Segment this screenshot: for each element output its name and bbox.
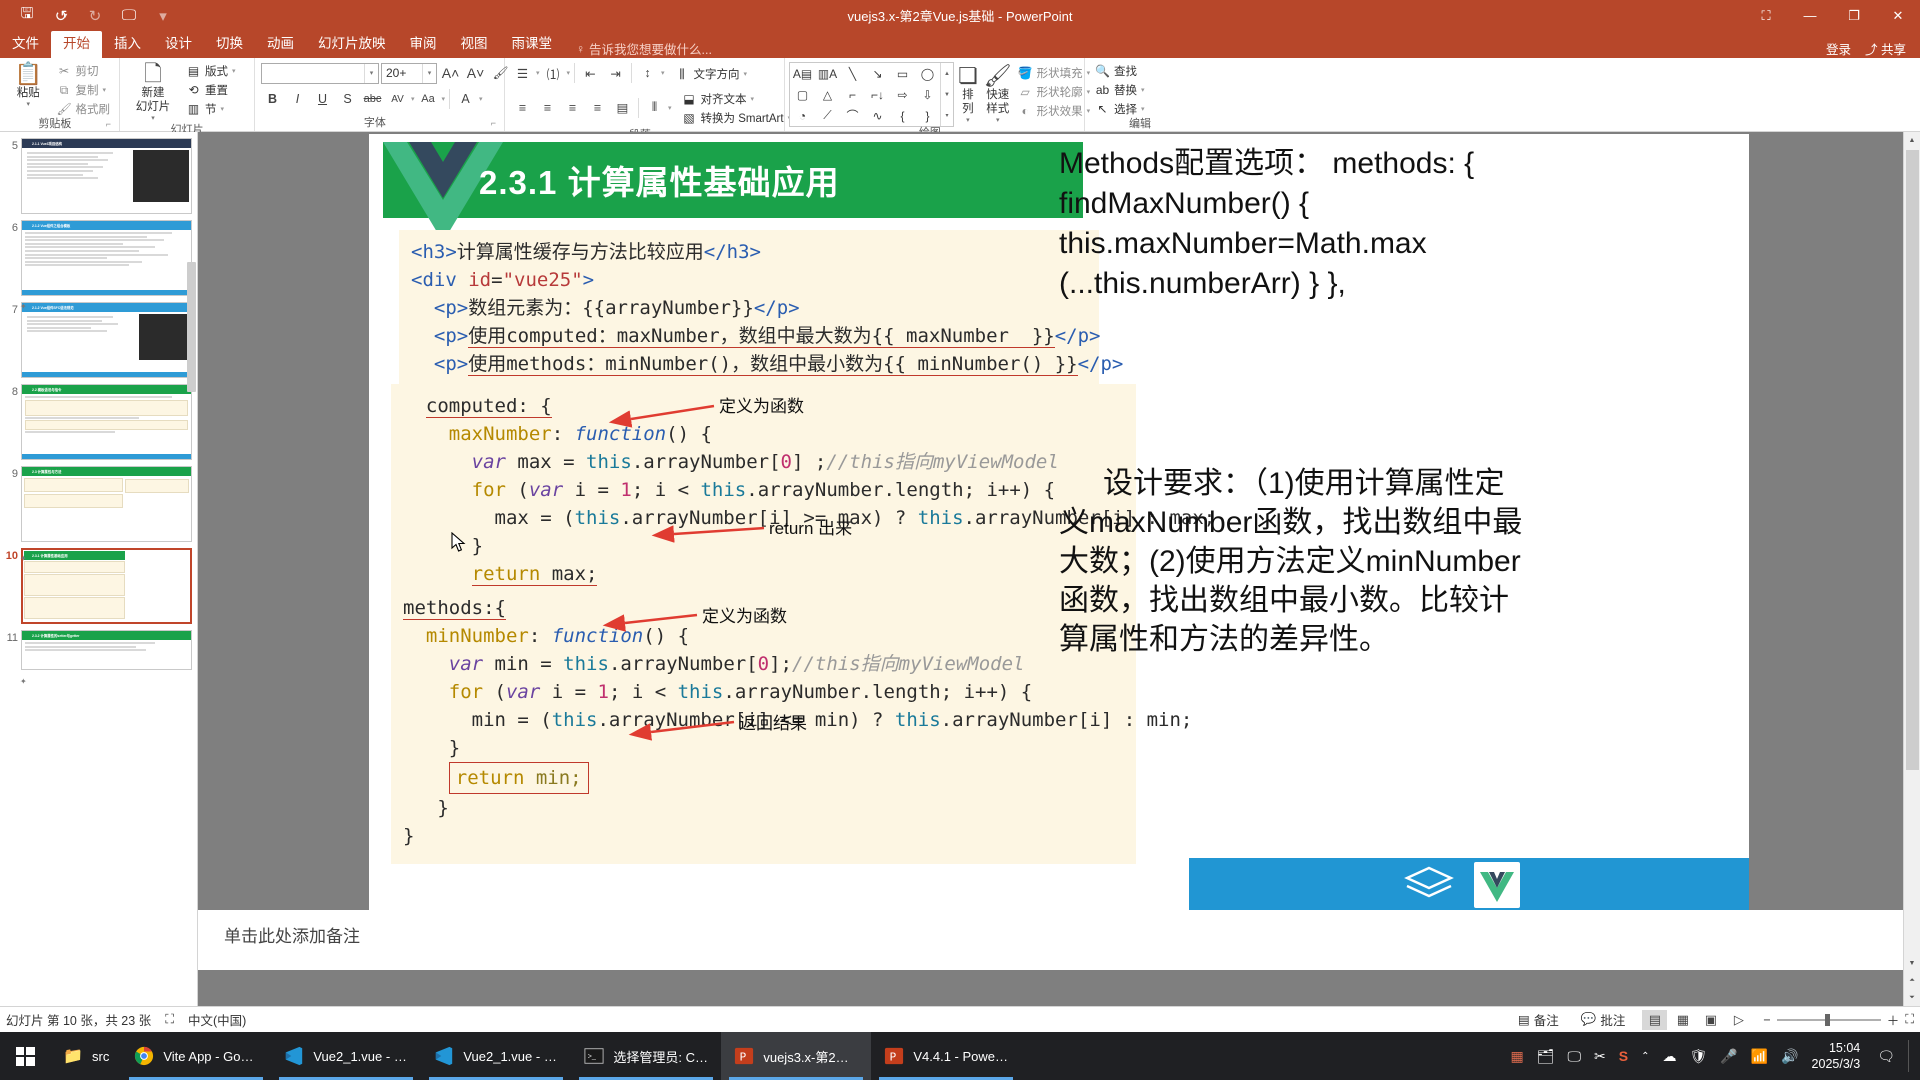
vue-badge-icon xyxy=(1474,862,1520,908)
replace-label: 替换 xyxy=(1114,82,1137,98)
undo-icon[interactable]: ↺▾ xyxy=(44,2,78,29)
ribbon-body: 📋 粘贴 ▾ ✂ 剪切 ⧉ 复制 ▾ 🖌 格式刷 xyxy=(0,58,1920,132)
taskbar-label: vuejs3.x-第2章Vue... xyxy=(763,1047,859,1066)
copy-button[interactable]: ⧉ 复制 ▾ xyxy=(55,81,116,99)
shape-right-brace-icon[interactable]: } xyxy=(915,105,940,126)
minimize-icon[interactable]: — xyxy=(1788,0,1832,31)
paste-label: 粘贴 xyxy=(17,86,40,100)
scrollbar-thumb[interactable] xyxy=(1906,150,1919,770)
shape-vertical-textbox-icon[interactable]: ▥A xyxy=(815,63,840,84)
character-spacing-icon[interactable]: AV xyxy=(386,88,409,110)
taskbar-item-vscode-2[interactable]: Vue2_1.vue - Visu... xyxy=(421,1032,571,1080)
redo-icon[interactable]: ↻ xyxy=(78,2,112,29)
animation-star-icon: ✦ xyxy=(20,554,27,563)
tray-volume-icon[interactable]: 🔊 xyxy=(1781,1048,1798,1065)
thumbnail-title: 2.1.2 Vue组件之组合模板 xyxy=(22,221,191,230)
quick-styles-button[interactable]: 🖌 快速样式 ▾ xyxy=(982,62,1014,126)
cursor-icon: ↖ xyxy=(1095,102,1110,116)
font-name-chevron-down-icon[interactable]: ▾ xyxy=(364,64,378,83)
powerpoint-icon: P xyxy=(733,1045,755,1067)
notes-placeholder: 单击此处添加备注 xyxy=(224,927,360,946)
align-text-button[interactable]: ⬓ 对齐文本 ▾ xyxy=(680,90,797,108)
taskbar-item-terminal[interactable]: >_ 选择管理员: C:\Wi... xyxy=(571,1032,721,1080)
notes-button[interactable]: ▤ 备注 xyxy=(1513,1008,1564,1031)
format-painter-button[interactable]: 🖌 格式刷 xyxy=(55,100,116,118)
ribbon-group-drawing: A▤ ▥A ╲ ↘ ▭ ◯ ▢ △ ⌐ ⌐↓ ⇨ ⇩ ◔ ⟋ ⌒ ∿ { xyxy=(785,58,1085,131)
reset-button[interactable]: ⟲ 重置 xyxy=(184,81,241,99)
slide-surface[interactable]: 2.3.1 计算属性基础应用 <h3>计算属性缓存与方法比较应用</h3> <d… xyxy=(369,134,1749,910)
align-center-icon[interactable]: ≡ xyxy=(536,97,559,119)
new-slide-button[interactable]: 🗋 新建 幻灯片 ▾ xyxy=(124,60,182,124)
list-item[interactable]: 5 2.1.1 Vue3项目结构 xyxy=(0,135,197,217)
taskbar-label: 选择管理员: C:\Wi... xyxy=(613,1047,709,1066)
shape-triangle-icon[interactable]: △ xyxy=(815,84,840,105)
thumbnail-card-10[interactable]: 2.3.1 计算属性基础应用 xyxy=(21,548,192,624)
tab-design[interactable]: 设计 xyxy=(153,31,204,58)
layout-icon: ▤ xyxy=(186,64,201,78)
comments-label: 批注 xyxy=(1600,1010,1625,1029)
animation-star-icon: ✦ xyxy=(20,677,27,686)
arrange-icon: ❏ xyxy=(958,64,978,88)
show-desktop-bar[interactable] xyxy=(1908,1040,1912,1072)
thumbnail-title: 2.3.2 计算属性的setter与getter xyxy=(22,631,191,640)
section-label: 节 xyxy=(205,101,217,117)
thumbnail-number: 9 xyxy=(2,466,18,480)
thumbnail-title: 2.1.1 Vue3项目结构 xyxy=(22,139,191,148)
new-slide-label: 新建 幻灯片 xyxy=(136,86,171,114)
right-code-text[interactable]: Methods配置选项： methods: { findMaxNumber() … xyxy=(1059,144,1529,304)
shape-rounded-rect-icon[interactable]: ▢ xyxy=(790,84,815,105)
reset-label: 重置 xyxy=(205,82,228,98)
replace-icon: ab xyxy=(1095,83,1110,97)
list-item-selected[interactable]: 10 2.3.1 计算属性基础应用 xyxy=(0,545,197,627)
system-tray: ▦ 🗂 🖵 ✂ S ⌃ ☁ 🛡 🎤 📶 🔊 15:04 2025/3/3 🗨 xyxy=(1510,1040,1920,1072)
shapes-more-icon[interactable]: ▾ xyxy=(941,105,953,126)
normal-view-icon[interactable]: ▤ xyxy=(1642,1010,1667,1030)
tray-shield-icon[interactable]: 🛡 xyxy=(1689,1048,1707,1065)
tab-review[interactable]: 审阅 xyxy=(398,31,449,58)
thumbnail-number: 5 xyxy=(2,138,18,152)
fit-slide-icon[interactable]: ⛶ xyxy=(1905,1012,1914,1027)
annotation-return-result: 返回结果 xyxy=(739,709,807,734)
shape-outline-label: 形状轮廓 xyxy=(1037,84,1083,100)
quick-styles-icon: 🖌 xyxy=(984,64,1012,88)
vscode-icon xyxy=(283,1045,305,1067)
convert-smartart-button[interactable]: ▧ 转换为 SmartArt ▾ xyxy=(680,109,797,127)
list-item[interactable]: 11 2.3.2 计算属性的setter与getter xyxy=(0,627,197,673)
tray-cloud-icon[interactable]: ☁ xyxy=(1662,1048,1676,1065)
font-size-chevron-down-icon[interactable]: ▾ xyxy=(422,64,436,83)
change-case-icon[interactable]: Aa xyxy=(417,88,440,110)
tray-app-icon[interactable]: ▦ xyxy=(1510,1048,1523,1065)
tab-yuketang[interactable]: 雨课堂 xyxy=(500,31,565,58)
window-title: vuejs3.x-第2章Vue.js基础 - PowerPoint xyxy=(0,6,1920,25)
notes-icon: ▤ xyxy=(1518,1012,1530,1027)
strikethrough-icon[interactable]: abc xyxy=(361,88,384,110)
ribbon-group-editing: 🔍 查找 ab 替换 ▾ ↖ 选择 ▾ 编辑 xyxy=(1085,58,1195,131)
clock-date: 2025/3/3 xyxy=(1812,1056,1861,1072)
search-icon: 🔍 xyxy=(1095,64,1110,78)
group-label-font: ⌐ 字体 xyxy=(259,117,500,131)
font-name-combo[interactable]: ▾ xyxy=(261,63,379,84)
right-requirement-text[interactable]: 设计要求：（1)使用计算属性定义maxNumber函数，找出数组中最大数；(2)… xyxy=(1059,464,1529,659)
shape-outline-icon: ▱ xyxy=(1018,85,1033,99)
window-title-bar: 🖫 ↺▾ ↻ 🖵 ▾ vuejs3.x-第2章Vue.js基础 - PowerP… xyxy=(0,0,1920,31)
notes-label: 备注 xyxy=(1534,1010,1559,1029)
select-button[interactable]: ↖ 选择 ▾ xyxy=(1093,100,1150,118)
svg-text:P: P xyxy=(890,1051,897,1064)
line-spacing-icon[interactable]: ↕ xyxy=(636,62,659,84)
tab-view[interactable]: 视图 xyxy=(449,31,500,58)
save-icon[interactable]: 🖫 xyxy=(10,2,44,29)
tab-insert[interactable]: 插入 xyxy=(102,31,153,58)
decrease-font-size-icon[interactable]: A˅ xyxy=(464,62,487,84)
shape-effects-label: 形状效果 xyxy=(1037,103,1083,119)
chrome-icon xyxy=(133,1045,155,1067)
taskbar-clock[interactable]: 15:04 2025/3/3 xyxy=(1812,1040,1865,1072)
powerpoint-icon: P xyxy=(883,1045,905,1067)
underline-icon[interactable]: U xyxy=(311,88,334,110)
tell-me-box[interactable]: ♀ 告诉我您想要做什么... xyxy=(564,39,712,58)
shape-effects-icon: ◐ xyxy=(1018,104,1033,118)
zoom-in-icon[interactable]: ＋ xyxy=(1887,1010,1900,1029)
increase-font-size-icon[interactable]: A˄ xyxy=(439,62,462,84)
slide-canvas-area: 2.3.1 计算属性基础应用 <h3>计算属性缓存与方法比较应用</h3> <d… xyxy=(198,132,1920,1006)
smartart-icon: ▧ xyxy=(682,111,697,125)
taskbar-label: src xyxy=(92,1049,109,1064)
shape-right-arrow-icon[interactable]: ⇨ xyxy=(890,84,915,105)
shape-arc-icon[interactable]: ⌒ xyxy=(840,105,865,126)
zoom-out-icon[interactable]: − xyxy=(1763,1013,1770,1027)
slide-footer-bar xyxy=(1189,858,1749,910)
terminal-icon: >_ xyxy=(583,1045,605,1067)
thumbnail-card-8[interactable]: 2.2 模板语法与指令 xyxy=(21,384,192,460)
font-dialog-launcher[interactable]: ⌐ xyxy=(491,117,496,130)
copy-label: 复制 xyxy=(76,82,99,98)
list-item[interactable]: 7 2.1.2 Vue组件SFC语法规范 xyxy=(0,299,197,381)
scissors-icon: ✂ xyxy=(57,64,72,78)
taskbar-label: V4.4.1 - PowerPoi... xyxy=(913,1049,1009,1064)
thumbnail-number: 11 xyxy=(2,630,18,644)
select-label: 选择 xyxy=(1114,101,1137,117)
next-slide-icon[interactable]: ⏷ xyxy=(1904,989,1920,1006)
ribbon-group-paragraph: ☰▾ ⑴▾ ⇤ ⇥ ↕▾ ⫼ 文字方向 ▾ ≡ ≡ ≡ xyxy=(505,58,785,131)
tray-snip-icon[interactable]: ✂ xyxy=(1594,1048,1606,1065)
justify-icon[interactable]: ≡ xyxy=(586,97,609,119)
font-size-value: 20+ xyxy=(382,66,422,80)
shape-freeform-icon[interactable]: ⟋ xyxy=(815,105,840,126)
shape-oval-icon[interactable]: ◯ xyxy=(915,63,940,84)
animation-star-icon: ✦ xyxy=(20,302,27,311)
numbering-icon[interactable]: ⑴ xyxy=(542,62,565,84)
align-right-icon[interactable]: ≡ xyxy=(561,97,584,119)
arrange-label: 排列 xyxy=(958,88,978,116)
shape-elbow-icon[interactable]: ⌐ xyxy=(840,84,865,105)
book-icon xyxy=(1404,864,1454,906)
increase-indent-icon[interactable]: ⇥ xyxy=(604,62,627,84)
font-size-combo[interactable]: 20+ ▾ xyxy=(381,63,437,84)
svg-text:>_: >_ xyxy=(588,1052,597,1061)
thumbnail-scrollbar[interactable] xyxy=(187,262,196,392)
thumbnail-number: 10 xyxy=(2,548,18,562)
comment-icon: 💬 xyxy=(1581,1012,1597,1027)
thumbnail-number: 7 xyxy=(2,302,18,316)
window-controls[interactable]: ⛶ — ❐ ✕ xyxy=(1744,0,1920,31)
italic-icon[interactable]: I xyxy=(286,88,309,110)
taskbar-label: Vue2_1.vue - cha... xyxy=(313,1049,409,1064)
slideshow-view-icon[interactable]: ▷ xyxy=(1726,1010,1751,1030)
list-item[interactable]: 9 2.3 计算属性与方法 xyxy=(0,463,197,545)
shape-arrow-icon[interactable]: ↘ xyxy=(865,63,890,84)
shapes-scroll-down-icon[interactable]: ▼ xyxy=(941,84,953,105)
thumbnail-card-9[interactable]: 2.3 计算属性与方法 xyxy=(21,466,192,542)
annotation-define-function-2: 定义为函数 xyxy=(702,602,787,627)
thumbnail-number: 8 xyxy=(2,384,18,398)
page-title: 2.3.1 计算属性基础应用 xyxy=(479,156,840,204)
status-bar: 幻灯片 第 10 张，共 23 张 ⛶ 中文(中国) ▤ 备注 💬 批注 ▤ ▦… xyxy=(0,1006,1920,1032)
slide-thumbnail-panel[interactable]: 5 2.1.1 Vue3项目结构 6 2.1.2 Vue组件之组合模板 xyxy=(0,132,198,1006)
section-button[interactable]: ▥ 节 ▾ xyxy=(184,100,241,118)
tab-transitions[interactable]: 切换 xyxy=(204,31,255,58)
thumbnail-card-6[interactable]: 2.1.2 Vue组件之组合模板 xyxy=(21,220,192,296)
scroll-down-icon[interactable]: ▼ xyxy=(1904,955,1920,972)
tab-home[interactable]: 开始 xyxy=(51,31,102,58)
notes-pane[interactable]: 单击此处添加备注 xyxy=(198,910,1920,970)
slide-count-label: 幻灯片 第 10 张，共 23 张 xyxy=(6,1010,151,1029)
taskbar-label: Vue2_1.vue - Visu... xyxy=(463,1049,559,1064)
taskbar-item-vscode-1[interactable]: Vue2_1.vue - cha... xyxy=(271,1032,421,1080)
thumbnail-title: 2.1.2 Vue组件SFC语法规范 xyxy=(22,303,191,312)
shapes-gallery-scrollbar[interactable]: ▲ ▼ ▾ xyxy=(940,63,953,126)
close-icon[interactable]: ✕ xyxy=(1876,0,1920,31)
tray-network-icon[interactable]: 📶 xyxy=(1751,1048,1768,1065)
paste-icon: 📋 xyxy=(15,62,42,86)
align-text-icon: ⬓ xyxy=(682,92,697,106)
shapes-scroll-up-icon[interactable]: ▲ xyxy=(941,63,953,84)
convert-smartart-label: 转换为 SmartArt xyxy=(701,110,784,126)
format-painter-label: 格式刷 xyxy=(76,101,111,117)
slide-vertical-scrollbar[interactable]: ▲ ▼ ⏶ ⏷ xyxy=(1903,132,1920,1006)
start-button[interactable] xyxy=(0,1032,50,1080)
section-icon: ▥ xyxy=(186,102,201,116)
copy-icon: ⧉ xyxy=(57,83,72,98)
language-label[interactable]: 中文(中国) xyxy=(188,1010,246,1029)
tab-file[interactable]: 文件 xyxy=(0,31,51,58)
shape-fill-label: 形状填充 xyxy=(1037,65,1083,81)
shape-line-icon[interactable]: ╲ xyxy=(840,63,865,84)
text-direction-button[interactable]: ⫼ 文字方向 ▾ xyxy=(673,65,753,83)
view-switcher[interactable]: ▤ ▦ ▣ ▷ xyxy=(1642,1010,1751,1030)
shape-pie-icon[interactable]: ◔ xyxy=(790,105,815,126)
restore-icon[interactable]: ❐ xyxy=(1832,0,1876,31)
thumbnail-card-7[interactable]: 2.1.2 Vue组件SFC语法规范 xyxy=(21,302,192,378)
thumbnail-title: 2.3.1 计算属性基础应用 xyxy=(24,551,125,560)
bullets-icon[interactable]: ☰ xyxy=(511,62,534,84)
tray-folder-icon[interactable]: 🗂 xyxy=(1537,1048,1555,1065)
text-direction-label: 文字方向 xyxy=(694,66,740,82)
thumbnail-title: 2.2 模板语法与指令 xyxy=(22,385,191,394)
align-left-icon[interactable]: ≡ xyxy=(511,97,534,119)
shapes-gallery[interactable]: A▤ ▥A ╲ ↘ ▭ ◯ ▢ △ ⌐ ⌐↓ ⇨ ⇩ ◔ ⟋ ⌒ ∿ { xyxy=(789,62,954,127)
folder-icon: 📁 xyxy=(62,1045,84,1067)
taskbar-item-ppt-1[interactable]: P vuejs3.x-第2章Vue... xyxy=(721,1032,871,1080)
taskbar-label: Vite App - Googl... xyxy=(163,1049,259,1064)
thumbnail-card-11[interactable]: 2.3.2 计算属性的setter与getter xyxy=(21,630,192,670)
accessibility-icon[interactable]: ⛶ xyxy=(165,1012,174,1027)
previous-slide-icon[interactable]: ⏶ xyxy=(1904,972,1920,989)
cut-label: 剪切 xyxy=(76,63,99,79)
tray-sogou-icon[interactable]: S xyxy=(1619,1048,1628,1064)
zoom-knob[interactable] xyxy=(1825,1014,1830,1026)
new-slide-icon: 🗋 xyxy=(144,62,162,86)
taskbar-item-chrome[interactable]: Vite App - Googl... xyxy=(121,1032,271,1080)
svg-text:P: P xyxy=(740,1051,747,1064)
replace-button[interactable]: ab 替换 ▾ xyxy=(1093,81,1150,99)
decrease-indent-icon[interactable]: ⇤ xyxy=(579,62,602,84)
account-area[interactable]: 登录 ⤴ 共享 xyxy=(1826,39,1920,58)
sign-in-link[interactable]: 登录 xyxy=(1826,39,1851,58)
tell-me-label: 告诉我您想要做什么... xyxy=(589,39,712,58)
list-item[interactable]: 6 2.1.2 Vue组件之组合模板 xyxy=(0,217,197,299)
distribute-icon[interactable]: ▤ xyxy=(611,97,634,119)
arrange-button[interactable]: ❏ 排列 ▾ xyxy=(956,62,980,126)
taskbar-item-ppt-2[interactable]: P V4.4.1 - PowerPoi... xyxy=(871,1032,1021,1080)
shape-curve-icon[interactable]: ∿ xyxy=(865,105,890,126)
comments-button[interactable]: 💬 批注 xyxy=(1576,1008,1631,1031)
tray-chevron-up-icon[interactable]: ⌃ xyxy=(1641,1051,1649,1062)
ribbon-display-options-icon[interactable]: ⛶ xyxy=(1744,0,1788,31)
customize-qat-icon[interactable]: ▾ xyxy=(146,2,180,29)
zoom-slider[interactable]: − ＋ ⛶ xyxy=(1763,1010,1914,1029)
group-label-clipboard: ⌐ 剪贴板 xyxy=(4,118,115,132)
layout-label: 版式 xyxy=(205,63,228,79)
shape-elbow-arrow-icon[interactable]: ⌐↓ xyxy=(865,84,890,105)
reset-icon: ⟲ xyxy=(186,83,201,97)
shadow-icon[interactable]: S xyxy=(336,88,359,110)
ribbon-group-font: ▾ 20+ ▾ A˄ A˅ 🖌 B I U S abc AV ▾ Aa ▾ xyxy=(255,58,505,131)
quick-access-toolbar[interactable]: 🖫 ↺▾ ↻ 🖵 ▾ xyxy=(0,2,180,29)
reading-view-icon[interactable]: ▣ xyxy=(1698,1010,1723,1030)
tab-slideshow[interactable]: 幻灯片放映 xyxy=(306,31,398,58)
slide-sorter-icon[interactable]: ▦ xyxy=(1670,1010,1695,1030)
quick-styles-label: 快速样式 xyxy=(984,88,1012,116)
shape-textbox-icon[interactable]: A▤ xyxy=(790,63,815,84)
annotation-return-out: return 出来 xyxy=(769,514,852,539)
find-button[interactable]: 🔍 查找 xyxy=(1093,62,1150,80)
share-button[interactable]: ⤴ 共享 xyxy=(1865,39,1906,58)
brush-icon: 🖌 xyxy=(57,102,72,116)
shape-fill-icon: 🪣 xyxy=(1018,66,1033,80)
tab-animations[interactable]: 动画 xyxy=(255,31,306,58)
shape-left-brace-icon[interactable]: { xyxy=(890,105,915,126)
ribbon-group-clipboard: 📋 粘贴 ▾ ✂ 剪切 ⧉ 复制 ▾ 🖌 格式刷 xyxy=(0,58,120,131)
taskbar-item-src[interactable]: 📁 src xyxy=(50,1032,121,1080)
thumbnail-card-5[interactable]: 2.1.1 Vue3项目结构 xyxy=(21,138,192,214)
tray-monitor-icon[interactable]: 🖵 xyxy=(1567,1048,1581,1065)
shape-rectangle-icon[interactable]: ▭ xyxy=(890,63,915,84)
shape-fill-button[interactable]: 🪣 形状填充 ▾ xyxy=(1016,64,1096,82)
lightbulb-icon: ♀ xyxy=(576,42,585,56)
text-direction-icon: ⫼ xyxy=(675,67,690,82)
annotation-define-function-1: 定义为函数 xyxy=(719,392,804,417)
shape-down-arrow-icon[interactable]: ⇩ xyxy=(915,84,940,105)
clock-time: 15:04 xyxy=(1829,1040,1860,1056)
cut-button[interactable]: ✂ 剪切 xyxy=(55,62,116,80)
group-label-editing: 编辑 xyxy=(1089,118,1191,132)
bold-icon[interactable]: B xyxy=(261,88,284,110)
ribbon-group-slides: 🗋 新建 幻灯片 ▾ ▤ 版式 ▾ ⟲ 重置 ▥ 节 ▾ xyxy=(120,58,255,131)
shape-outline-button[interactable]: ▱ 形状轮廓 ▾ xyxy=(1016,83,1096,101)
scroll-up-icon[interactable]: ▲ xyxy=(1904,132,1920,149)
font-color-icon[interactable]: A xyxy=(454,88,477,110)
tray-mic-icon[interactable]: 🎤 xyxy=(1720,1048,1737,1065)
list-item[interactable]: 8 2.2 模板语法与指令 xyxy=(0,381,197,463)
shape-effects-button[interactable]: ◐ 形状效果 ▾ xyxy=(1016,102,1096,120)
start-slideshow-icon[interactable]: 🖵 xyxy=(112,2,146,29)
ribbon-tab-bar: 文件 开始 插入 设计 切换 动画 幻灯片放映 审阅 视图 雨课堂 ♀ 告诉我您… xyxy=(0,31,1920,58)
thumbnail-number: 6 xyxy=(2,220,18,234)
status-right: ▤ 备注 💬 批注 ▤ ▦ ▣ ▷ − ＋ ⛶ xyxy=(1513,1008,1914,1031)
notification-center-icon[interactable]: 🗨 xyxy=(1877,1048,1895,1065)
thumbnail-title: 2.3 计算属性与方法 xyxy=(22,467,191,476)
layout-button[interactable]: ▤ 版式 ▾ xyxy=(184,62,241,80)
windows-taskbar: 📁 src Vite App - Googl... Vue2_1.vue - c… xyxy=(0,1032,1920,1080)
windows-logo-icon xyxy=(16,1047,35,1066)
find-label: 查找 xyxy=(1114,63,1137,79)
zoom-track[interactable] xyxy=(1777,1019,1881,1021)
paste-button[interactable]: 📋 粘贴 ▾ xyxy=(4,60,53,110)
columns-icon[interactable]: ⫴ xyxy=(643,97,666,119)
main-area: 5 2.1.1 Vue3项目结构 6 2.1.2 Vue组件之组合模板 xyxy=(0,132,1920,1006)
clipboard-dialog-launcher[interactable]: ⌐ xyxy=(106,118,111,131)
vscode-icon xyxy=(433,1045,455,1067)
align-text-label: 对齐文本 xyxy=(701,91,747,107)
